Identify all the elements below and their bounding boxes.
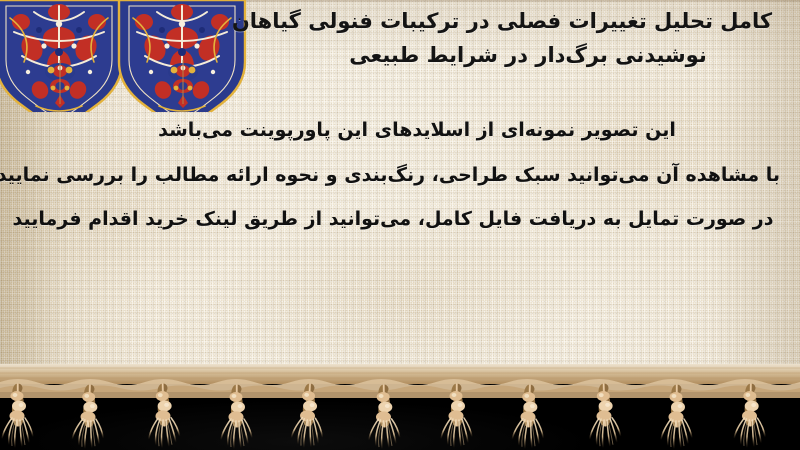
body-line-2: با مشاهده آن می‌توانید سبک طراحی، رنگ‌بن… (10, 153, 780, 198)
title-line-2: نوشیدنی برگ‌دار در شرایط طبیعی (222, 38, 800, 72)
carpet-fringe-tassels (0, 358, 800, 450)
title-line-1: کامل تحلیل تغییرات فصلی در ترکیبات فنولی… (222, 4, 782, 38)
body-line-3: در صورت تمایل به دریافت فایل کامل، می‌تو… (10, 197, 776, 242)
persian-medallion-ornament-left (0, 0, 126, 112)
slide-body-text: این تصویر نمونه‌ای از اسلایدهای این پاور… (10, 108, 780, 242)
body-line-1: این تصویر نمونه‌ای از اسلایدهای این پاور… (10, 108, 800, 153)
presentation-slide: کامل تحلیل تغییرات فصلی در ترکیبات فنولی… (0, 0, 800, 450)
slide-title: کامل تحلیل تغییرات فصلی در ترکیبات فنولی… (222, 4, 782, 72)
